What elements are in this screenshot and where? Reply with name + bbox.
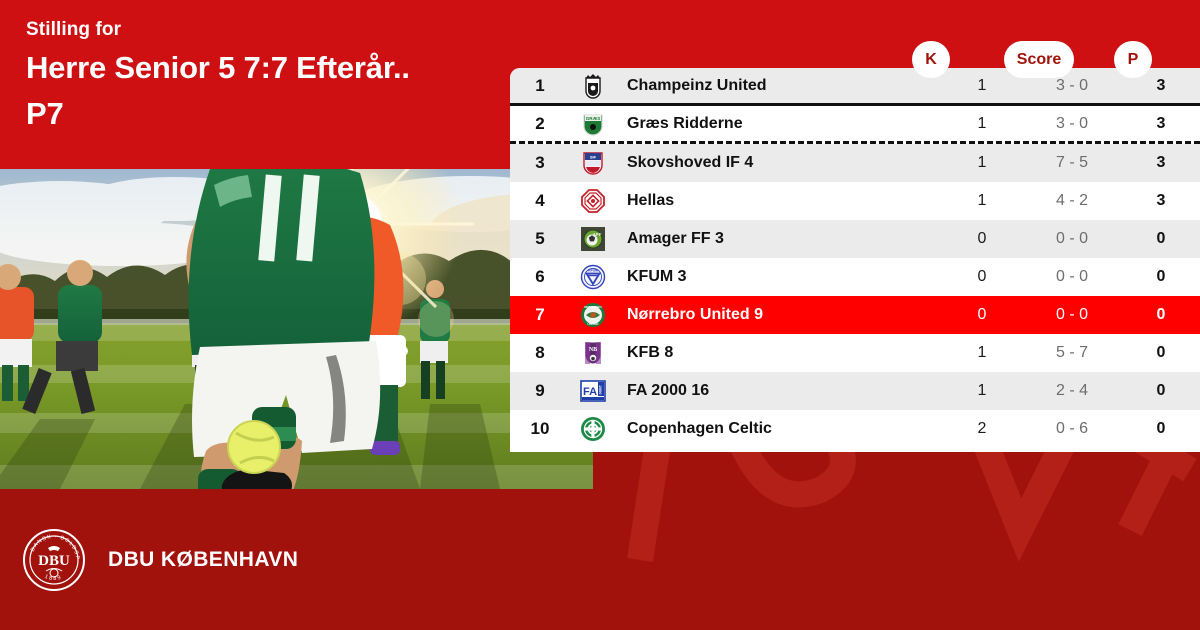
blue-triangle-icon: KFUM bbox=[570, 264, 615, 290]
row-goal-score: 4 - 2 bbox=[1022, 192, 1122, 210]
svg-text:SIF: SIF bbox=[589, 154, 596, 159]
row-team-name: KFB 8 bbox=[615, 344, 942, 362]
blue-red-shield-icon: SIF bbox=[570, 150, 615, 176]
table-row[interactable]: 7 NØRREBRO UNITEDNørrebro United 900 - 0… bbox=[510, 296, 1200, 334]
row-team-name: Hellas bbox=[615, 192, 942, 210]
fa-blue-icon: FA 2000 bbox=[570, 378, 615, 404]
purple-shield-icon: NB bbox=[570, 340, 615, 366]
row-rank: 6 bbox=[510, 267, 570, 287]
title-line-2: P7 bbox=[26, 94, 496, 134]
row-rank: 4 bbox=[510, 191, 570, 211]
row-team-name: Nørrebro United 9 bbox=[615, 306, 942, 324]
row-team-name: Skovshoved IF 4 bbox=[615, 154, 942, 172]
crown-shield-icon bbox=[570, 73, 615, 99]
row-rank: 3 bbox=[510, 153, 570, 173]
table-row[interactable]: 10 Copenhagen Celtic20 - 60 bbox=[510, 410, 1200, 448]
svg-text:NØRREBRO: NØRREBRO bbox=[584, 305, 602, 309]
row-goal-score: 2 - 4 bbox=[1022, 382, 1122, 400]
row-goal-score: 7 - 5 bbox=[1022, 154, 1122, 172]
row-goal-score: 3 - 0 bbox=[1022, 77, 1122, 95]
row-matches-played: 0 bbox=[942, 306, 1022, 324]
title-line-1: Herre Senior 5 7:7 Efterår.. bbox=[26, 48, 496, 88]
row-matches-played: 1 bbox=[942, 115, 1022, 133]
row-matches-played: 1 bbox=[942, 192, 1022, 210]
row-team-name: Champeinz United bbox=[615, 77, 942, 95]
table-row[interactable]: 8 NB KFB 815 - 70 bbox=[510, 334, 1200, 372]
column-header-k[interactable]: K bbox=[912, 41, 950, 78]
table-row[interactable]: 6 KFUMKFUM 300 - 00 bbox=[510, 258, 1200, 296]
row-rank: 7 bbox=[510, 305, 570, 325]
row-points: 0 bbox=[1122, 230, 1200, 248]
row-team-name: KFUM 3 bbox=[615, 268, 942, 286]
row-rank: 2 bbox=[510, 114, 570, 134]
celtic-cross-icon bbox=[570, 416, 615, 442]
svg-text:DBU: DBU bbox=[38, 553, 70, 569]
row-points: 0 bbox=[1122, 420, 1200, 438]
table-row[interactable]: 9 FA 2000 FA 2000 1612 - 40 bbox=[510, 372, 1200, 410]
row-matches-played: 2 bbox=[942, 420, 1022, 438]
column-header-score[interactable]: Score bbox=[1004, 41, 1074, 78]
row-team-name: Græs Ridderne bbox=[615, 115, 942, 133]
row-rank: 9 bbox=[510, 381, 570, 401]
title-kicker: Stilling for bbox=[26, 18, 496, 42]
row-rank: 1 bbox=[510, 76, 570, 96]
row-points: 3 bbox=[1122, 154, 1200, 172]
page-title: Stilling for Herre Senior 5 7:7 Efterår.… bbox=[26, 18, 496, 134]
green-shield-icon: GRÆS bbox=[570, 111, 615, 137]
row-points: 0 bbox=[1122, 306, 1200, 324]
row-goal-score: 0 - 6 bbox=[1022, 420, 1122, 438]
row-goal-score: 0 - 0 bbox=[1022, 268, 1122, 286]
row-matches-played: 1 bbox=[942, 154, 1022, 172]
green-circle-icon: NØRREBRO UNITED bbox=[570, 302, 615, 328]
row-team-name: FA 2000 16 bbox=[615, 382, 942, 400]
svg-text:KFUM: KFUM bbox=[588, 268, 598, 272]
table-row[interactable]: 2 GRÆS Græs Ridderne13 - 03 bbox=[510, 106, 1200, 144]
footer-label: DBU KØBENHAVN bbox=[108, 548, 298, 572]
footer: DANSK · BOLDSPIL · UNION 1889 DBU DBU KØ… bbox=[0, 489, 1200, 630]
svg-text:2000: 2000 bbox=[598, 386, 603, 396]
standings-table[interactable]: 1 Champeinz United13 - 032 GRÆS Græs Rid… bbox=[510, 68, 1200, 452]
column-header-p[interactable]: P bbox=[1114, 41, 1152, 78]
table-row[interactable]: 5 AFFAmager FF 300 - 00 bbox=[510, 220, 1200, 258]
ball-square-icon: AFF bbox=[570, 226, 615, 252]
table-row[interactable]: 3 SIFSkovshoved IF 417 - 53 bbox=[510, 144, 1200, 182]
svg-text:GRÆS: GRÆS bbox=[585, 116, 600, 121]
row-goal-score: 0 - 0 bbox=[1022, 230, 1122, 248]
row-goal-score: 0 - 0 bbox=[1022, 306, 1122, 324]
row-matches-played: 1 bbox=[942, 382, 1022, 400]
row-points: 0 bbox=[1122, 344, 1200, 362]
dbu-seal-logo: DANSK · BOLDSPIL · UNION 1889 DBU bbox=[22, 528, 86, 592]
table-row[interactable]: 1 Champeinz United13 - 03 bbox=[510, 68, 1200, 106]
svg-text:FA: FA bbox=[582, 386, 596, 398]
svg-text:1889: 1889 bbox=[44, 573, 64, 581]
football-match-photo bbox=[0, 169, 593, 489]
table-row[interactable]: 4 Hellas14 - 23 bbox=[510, 182, 1200, 220]
row-matches-played: 1 bbox=[942, 344, 1022, 362]
row-points: 3 bbox=[1122, 77, 1200, 95]
svg-text:AFF: AFF bbox=[592, 232, 601, 237]
row-points: 0 bbox=[1122, 382, 1200, 400]
row-goal-score: 3 - 0 bbox=[1022, 115, 1122, 133]
row-matches-played: 0 bbox=[942, 230, 1022, 248]
row-team-name: Amager FF 3 bbox=[615, 230, 942, 248]
red-octagon-icon bbox=[570, 188, 615, 214]
row-points: 3 bbox=[1122, 115, 1200, 133]
svg-text:NB: NB bbox=[588, 347, 596, 353]
row-rank: 10 bbox=[510, 419, 570, 439]
row-goal-score: 5 - 7 bbox=[1022, 344, 1122, 362]
row-matches-played: 0 bbox=[942, 268, 1022, 286]
svg-text:UNITED: UNITED bbox=[587, 322, 599, 326]
row-rank: 5 bbox=[510, 229, 570, 249]
row-rank: 8 bbox=[510, 343, 570, 363]
row-team-name: Copenhagen Celtic bbox=[615, 420, 942, 438]
row-matches-played: 1 bbox=[942, 77, 1022, 95]
row-points: 0 bbox=[1122, 268, 1200, 286]
row-points: 3 bbox=[1122, 192, 1200, 210]
